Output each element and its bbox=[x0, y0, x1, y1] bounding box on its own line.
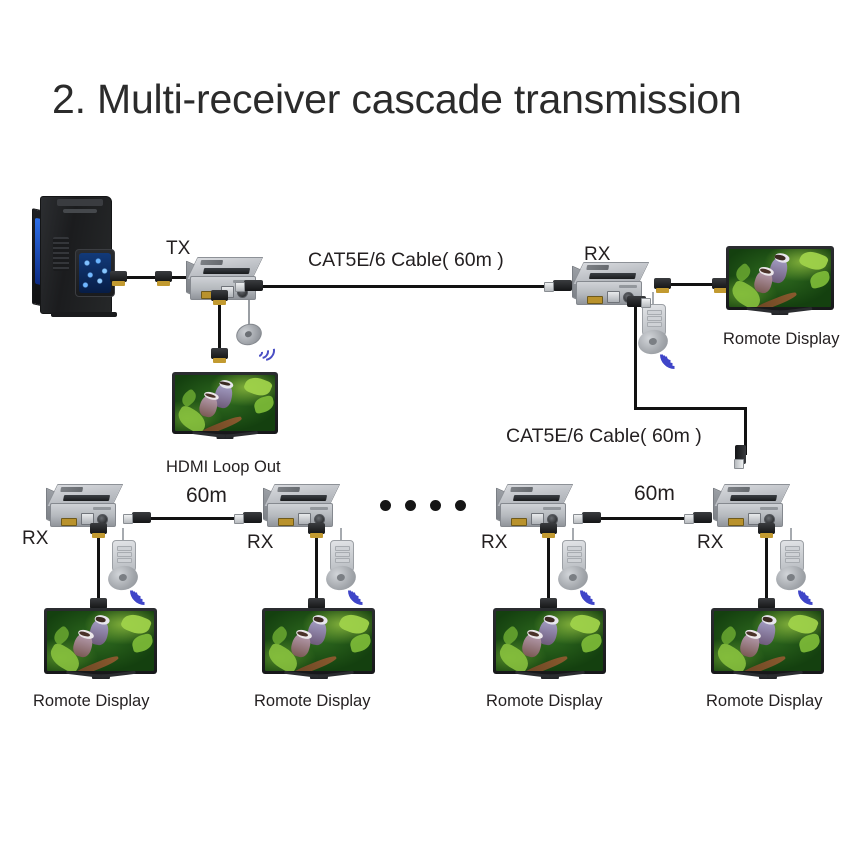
tv-screen bbox=[175, 375, 275, 431]
tv-stand bbox=[192, 434, 258, 443]
hdmi-plug-pc-side bbox=[110, 271, 127, 282]
tv-bezel bbox=[493, 608, 606, 674]
device-rx5 bbox=[713, 484, 787, 528]
pc-front-fan bbox=[75, 249, 115, 297]
rx2-hdmi-port bbox=[61, 518, 77, 526]
rj45-plug-rx1-in bbox=[553, 280, 572, 291]
ir-signal-waves-icon bbox=[132, 574, 162, 600]
wire-rx5-to-display5 bbox=[765, 528, 768, 606]
ir-receiver-rx5 bbox=[774, 528, 830, 598]
ir-signal-waves-icon bbox=[582, 574, 612, 600]
rx2-brand-strip bbox=[93, 507, 111, 510]
rj45-plug-rx3-in bbox=[243, 512, 262, 523]
tv-bezel bbox=[726, 246, 834, 310]
rx4-hdmi-port bbox=[511, 518, 527, 526]
tx-hdmi-brand bbox=[200, 260, 223, 265]
rx1-rj45-port bbox=[607, 291, 620, 303]
span-label-left: 60m bbox=[186, 484, 227, 508]
rx4-brand-strip bbox=[543, 507, 561, 510]
display-loop-out bbox=[172, 372, 278, 434]
span-label-right: 60m bbox=[634, 482, 675, 506]
display-caption-4: Romote Display bbox=[486, 692, 602, 711]
tv-screen bbox=[47, 611, 154, 671]
tv-bezel bbox=[711, 608, 824, 674]
rx1-hdmi-port bbox=[587, 296, 603, 304]
rx5-label: RX bbox=[697, 532, 723, 554]
ir-receiver-rx3 bbox=[324, 528, 380, 598]
hdmi-plug-tx-loop-bottom bbox=[211, 348, 228, 359]
hdmi-plug-rx5-out bbox=[758, 523, 775, 534]
rx1-hdmi-brand bbox=[586, 265, 609, 270]
wire-rx1-cascade-down bbox=[634, 300, 637, 409]
rj45-plug-rx5-in bbox=[735, 445, 746, 464]
pc-case bbox=[40, 196, 112, 314]
rx3-hdmi-brand bbox=[277, 487, 300, 492]
tv-bezel bbox=[44, 608, 157, 674]
pc-front-buttons bbox=[63, 209, 97, 213]
pc-foot bbox=[51, 312, 117, 317]
rj45-plug-rx4-out bbox=[582, 512, 601, 523]
rx5-hdmi-port bbox=[728, 518, 744, 526]
display-remote-5 bbox=[711, 608, 824, 674]
rx4-hdmi-brand bbox=[510, 487, 533, 492]
display-remote-3 bbox=[262, 608, 375, 674]
hdmi-plug-tx-loop-top bbox=[211, 290, 228, 301]
rx3-label: RX bbox=[247, 532, 273, 554]
rx3-hdmi-port bbox=[278, 518, 294, 526]
tv-stand bbox=[514, 674, 584, 683]
pc-top-vent bbox=[57, 199, 103, 206]
continuation-ellipsis bbox=[380, 500, 466, 511]
cable-label-mid: CAT5E/6 Cable( 60m ) bbox=[506, 425, 702, 448]
rx1-vent-slot bbox=[589, 273, 636, 279]
pc-fan-leds bbox=[79, 253, 111, 293]
diagram-canvas: 2. Multi-receiver cascade transmission T… bbox=[0, 0, 850, 850]
hdmi-plug-rx2-out bbox=[90, 523, 107, 534]
tx-vent-slot bbox=[203, 268, 250, 274]
display-caption-1: Romote Display bbox=[723, 330, 839, 349]
hdmi-plug-rx4-out bbox=[540, 523, 557, 534]
rx4-label: RX bbox=[481, 532, 507, 554]
device-rx3 bbox=[263, 484, 337, 528]
display-caption-2: Romote Display bbox=[33, 692, 149, 711]
ir-signal-waves-icon bbox=[350, 574, 380, 600]
rj45-plug-rx1-cascade-out bbox=[627, 296, 646, 307]
wire-rx2-to-display2 bbox=[97, 528, 100, 606]
rx3-vent-slot bbox=[280, 495, 327, 501]
device-rx4 bbox=[496, 484, 570, 528]
page-title: 2. Multi-receiver cascade transmission bbox=[52, 76, 742, 123]
ir-signal-waves-icon bbox=[662, 338, 692, 364]
desktop-computer-icon bbox=[32, 196, 116, 312]
ir-receiver-rx4 bbox=[556, 528, 612, 598]
rx5-hdmi-brand bbox=[727, 487, 750, 492]
tv-screen bbox=[496, 611, 603, 671]
tv-screen bbox=[714, 611, 821, 671]
display-remote-4 bbox=[493, 608, 606, 674]
tv-stand bbox=[747, 310, 814, 319]
rx3-brand-strip bbox=[310, 507, 328, 510]
rx5-brand-strip bbox=[760, 507, 778, 510]
wire-rx3-to-display3 bbox=[315, 528, 318, 606]
ir-receiver-tx bbox=[228, 300, 280, 362]
display-remote-2 bbox=[44, 608, 157, 674]
rj45-plug-rx5-cascade-in bbox=[693, 512, 712, 523]
display-caption-5: Romote Display bbox=[706, 692, 822, 711]
tv-screen bbox=[729, 249, 831, 307]
hdmi-plug-rx3-out bbox=[308, 523, 325, 534]
rx5-vent-slot bbox=[730, 495, 777, 501]
tv-screen bbox=[265, 611, 372, 671]
rx2-hdmi-brand bbox=[60, 487, 83, 492]
rx2-label: RX bbox=[22, 528, 48, 550]
pc-grille bbox=[53, 237, 69, 271]
rx1-brand-strip bbox=[619, 285, 637, 288]
hdmi-plug-rx1-out bbox=[654, 278, 671, 289]
tv-stand bbox=[732, 674, 802, 683]
display-caption-3: Romote Display bbox=[254, 692, 370, 711]
ir-signal-waves-icon bbox=[800, 574, 830, 600]
rj45-plug-rx2-out bbox=[132, 512, 151, 523]
display-caption-loop-out: HDMI Loop Out bbox=[166, 458, 281, 477]
device-rx2 bbox=[46, 484, 120, 528]
rx2-vent-slot bbox=[63, 495, 110, 501]
cable-label-top: CAT5E/6 Cable( 60m ) bbox=[308, 249, 504, 272]
rj45-plug-tx-out bbox=[244, 280, 263, 291]
wire-rx4-to-display4 bbox=[547, 528, 550, 606]
display-remote-1 bbox=[726, 246, 834, 310]
tv-stand bbox=[283, 674, 353, 683]
hdmi-plug-midspan bbox=[155, 271, 172, 282]
tv-bezel bbox=[262, 608, 375, 674]
tv-bezel bbox=[172, 372, 278, 434]
ir-receiver-rx2 bbox=[106, 528, 162, 598]
wire-cascade-horizontal bbox=[634, 407, 747, 410]
rx4-vent-slot bbox=[513, 495, 560, 501]
tv-stand bbox=[65, 674, 135, 683]
wire-tx-to-rx1 bbox=[260, 285, 572, 288]
ir-signal-waves-icon bbox=[254, 340, 280, 362]
